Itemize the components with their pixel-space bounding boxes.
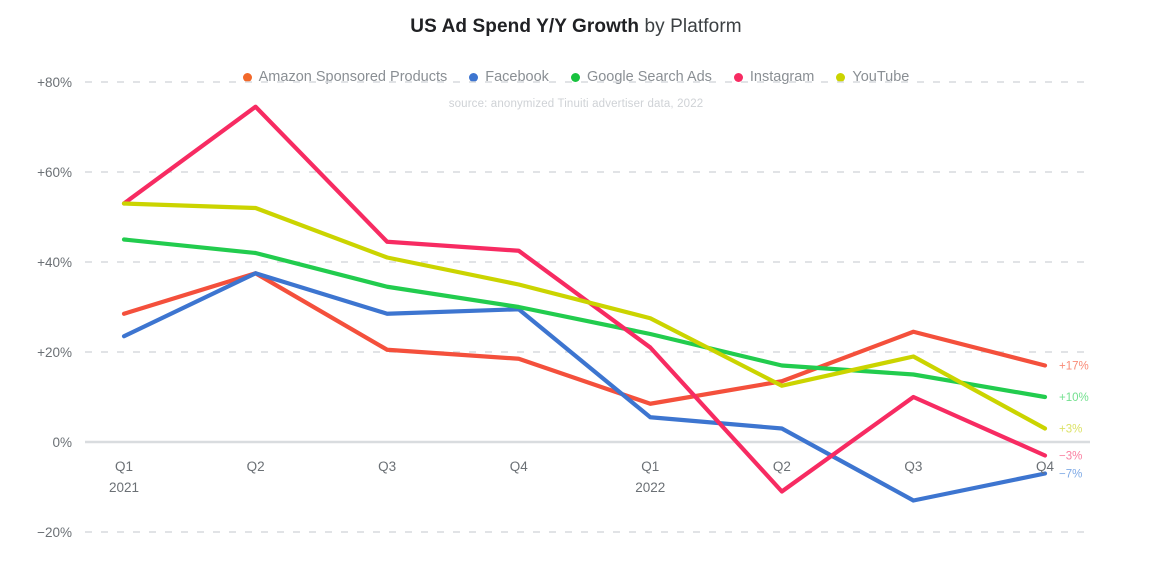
y-axis-layer: +80%+60%+40%+20%0%−20% xyxy=(37,75,72,540)
series-end-value-label: +17% xyxy=(1059,361,1089,373)
series-end-value-label: −7% xyxy=(1059,469,1082,481)
x-axis-year-label: 2022 xyxy=(635,480,665,495)
y-axis-tick-label: +80% xyxy=(37,75,72,90)
x-axis-tick-label: Q2 xyxy=(247,459,265,474)
x-axis-tick-label: Q1 xyxy=(115,459,133,474)
y-axis-tick-label: +40% xyxy=(37,255,72,270)
x-axis-tick-label: Q2 xyxy=(773,459,791,474)
series-end-value-label: +10% xyxy=(1059,392,1089,404)
series-line xyxy=(124,273,1045,404)
series-line xyxy=(124,240,1045,398)
x-axis-tick-label: Q4 xyxy=(1036,459,1055,474)
line-chart-plot: Q1Q2Q3Q4Q1Q2Q3Q420212022 +80%+60%+40%+20… xyxy=(0,0,1152,575)
y-axis-tick-label: +20% xyxy=(37,345,72,360)
grid-layer xyxy=(85,82,1090,532)
end-labels-layer: +17%−7%+10%−3%+3% xyxy=(1059,361,1089,481)
series-end-value-label: +3% xyxy=(1059,424,1082,436)
x-axis-tick-label: Q3 xyxy=(378,459,396,474)
x-axis-tick-label: Q1 xyxy=(641,459,659,474)
y-axis-tick-label: 0% xyxy=(52,435,72,450)
chart-root: US Ad Spend Y/Y Growth by Platform Amazo… xyxy=(0,0,1152,575)
series-line xyxy=(124,204,1045,429)
x-axis-tick-label: Q4 xyxy=(510,459,529,474)
x-axis-layer: Q1Q2Q3Q4Q1Q2Q3Q420212022 xyxy=(109,459,1055,495)
y-axis-tick-label: +60% xyxy=(37,165,72,180)
y-axis-tick-label: −20% xyxy=(37,525,72,540)
x-axis-year-label: 2021 xyxy=(109,480,139,495)
series-line xyxy=(124,107,1045,492)
x-axis-tick-label: Q3 xyxy=(904,459,922,474)
series-end-value-label: −3% xyxy=(1059,451,1082,463)
